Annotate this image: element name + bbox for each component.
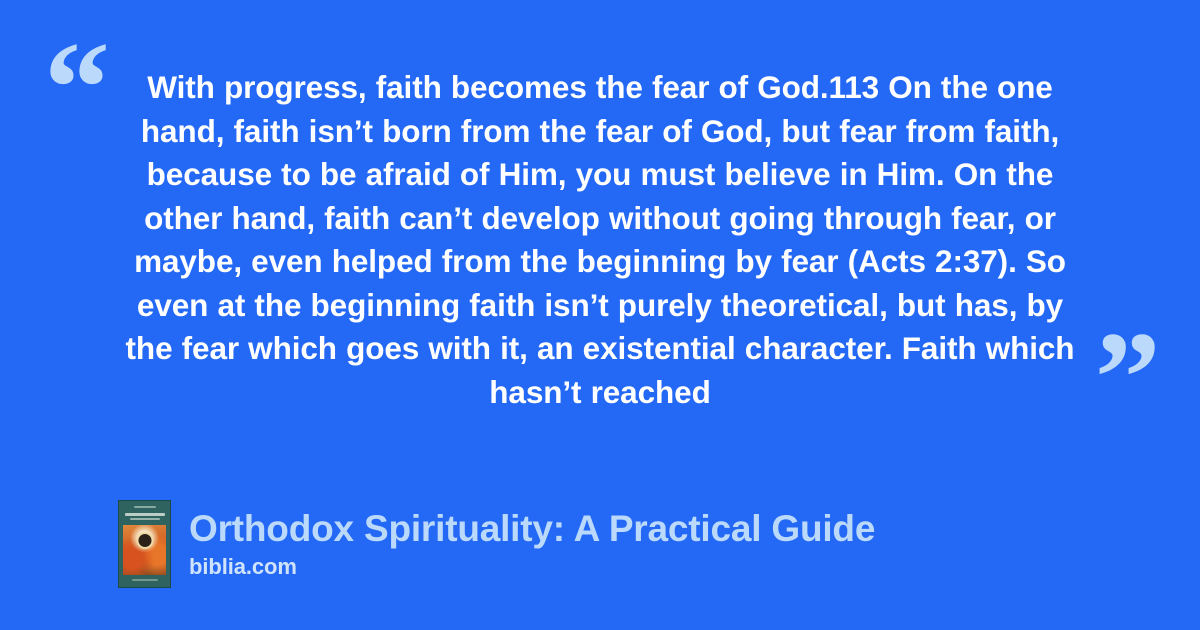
- book-title: Orthodox Spirituality: A Practical Guide: [189, 508, 875, 551]
- cover-publisher-line: [132, 579, 158, 581]
- footer: Orthodox Spirituality: A Practical Guide…: [118, 500, 875, 588]
- opening-quote-icon: “: [44, 22, 107, 154]
- book-cover-thumbnail: [118, 500, 171, 588]
- cover-figure-icon: [136, 532, 153, 549]
- cover-artwork-icon: [123, 525, 166, 575]
- site-name: biblia.com: [189, 554, 875, 580]
- quote-card: “ With progress, faith becomes the fear …: [0, 0, 1200, 630]
- footer-text-group: Orthodox Spirituality: A Practical Guide…: [189, 508, 875, 581]
- cover-subtitle-line: [130, 518, 160, 520]
- quote-text: With progress, faith becomes the fear of…: [112, 66, 1088, 414]
- cover-title-line: [125, 513, 165, 516]
- closing-quote-icon: ”: [1095, 312, 1158, 444]
- cover-author-line: [134, 506, 156, 508]
